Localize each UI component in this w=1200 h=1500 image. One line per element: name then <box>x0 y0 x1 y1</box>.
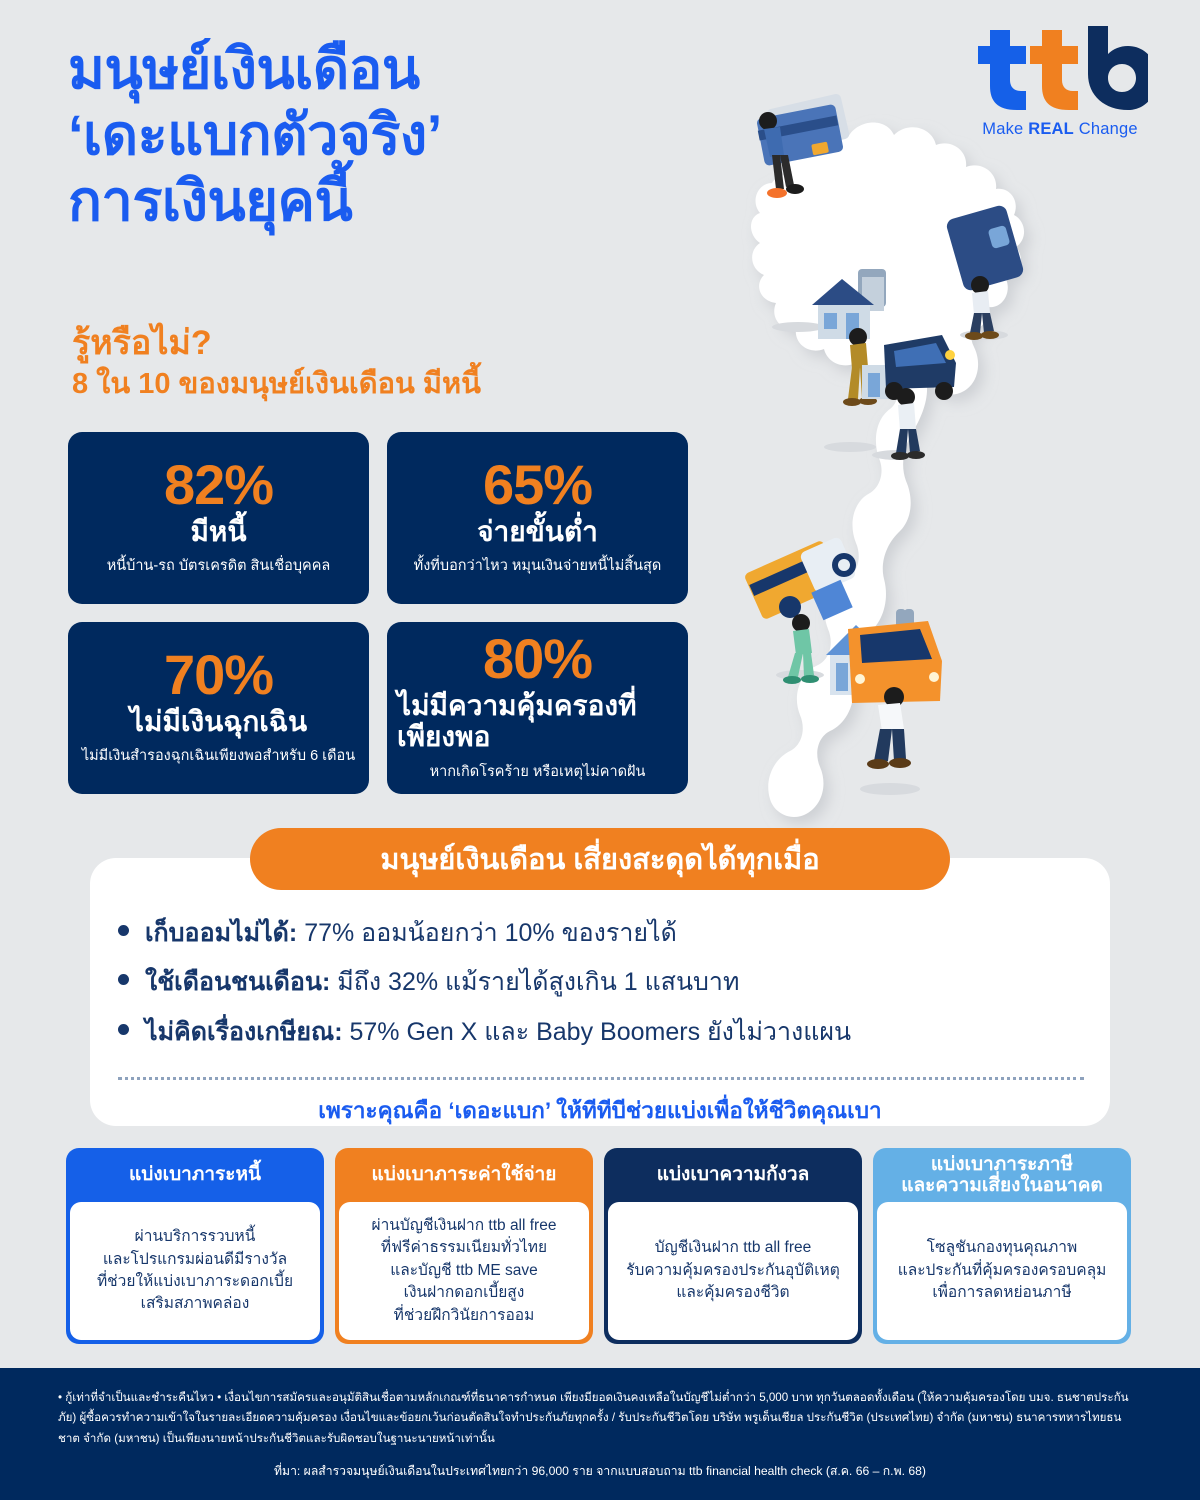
footer-source: ที่มา: ผลสำรวจมนุษย์เงินเดือนในประเทศไทย… <box>58 1462 1142 1481</box>
solution-card-expenses[interactable]: แบ่งเบาภาระค่าใช้จ่าย ผ่านบัญชีเงินฝาก t… <box>335 1148 593 1344</box>
solution-card-row: แบ่งเบาภาระหนี้ ผ่านบริการรวบหนี้และโปรแ… <box>66 1148 1134 1344</box>
thailand-map-svg <box>690 55 1090 845</box>
bullet-lead: เก็บออมไม่ได้: <box>145 919 297 947</box>
tagline-pre: Make <box>982 120 1028 138</box>
list-item: เก็บออมไม่ได้: 77% ออมน้อยกว่า 10% ของรา… <box>118 918 1098 949</box>
solution-card-title: แบ่งเบาภาระภาษีและความเสี่ยงในอนาคต <box>873 1148 1131 1202</box>
stat-card-grid: 82% มีหนี้ หนี้บ้าน-รถ บัตรเครดิต สินเชื… <box>68 432 688 812</box>
dotted-divider <box>118 1077 1084 1080</box>
tagline-post: Change <box>1074 120 1138 138</box>
bullet-dot-icon <box>118 974 129 985</box>
tagline-bold: REAL <box>1028 120 1074 138</box>
solution-card-body: โซลูชันกองทุนคุณภาพและประกันที่คุ้มครองค… <box>877 1202 1127 1340</box>
did-you-know-title: รู้หรือไม่? <box>72 325 692 362</box>
solution-card-title: แบ่งเบาภาระค่าใช้จ่าย <box>335 1148 593 1202</box>
solution-card-body: ผ่านบัญชีเงินฝาก ttb all freeที่ฟรีค่าธร… <box>339 1202 589 1340</box>
risk-panel-banner: มนุษย์เงินเดือน เสี่ยงสะดุดได้ทุกเมื่อ <box>250 828 950 890</box>
list-item: ใช้เดือนชนเดือน: มีถึง 32% แม้รายได้สูงเ… <box>118 967 1098 998</box>
solution-card-title: แบ่งเบาภาระหนี้ <box>66 1148 324 1202</box>
solution-card-body: ผ่านบริการรวบหนี้และโปรแกรมผ่อนดีมีรางวั… <box>70 1202 320 1340</box>
stat-card-minimum-payment: 65% จ่ายขั้นต่ำ ทั้งที่บอกว่าไหว หมุนเงิ… <box>387 432 688 604</box>
stat-description: ไม่มีเงินสำรองฉุกเฉินเพียงพอสำหรับ 6 เดื… <box>82 747 355 765</box>
because-tagline: เพราะคุณคือ ‘เดอะแบก’ ให้ทีทีบีช่วยแบ่งเ… <box>90 1092 1110 1128</box>
stat-percent: 80% <box>483 631 592 687</box>
bullet-rest: 77% ออมน้อยกว่า 10% ของรายได้ <box>297 919 677 947</box>
stat-card-no-coverage: 80% ไม่มีความคุ้มครองที่เพียงพอ หากเกิดโ… <box>387 622 688 794</box>
infographic-page: มนุษย์เงินเดือน ‘เดะแบกตัวจริง’ การเงินย… <box>0 0 1200 1500</box>
solution-card-body: บัญชีเงินฝาก ttb all freeรับความคุ้มครอง… <box>608 1202 858 1340</box>
ttb-logomark-icon <box>972 26 1148 114</box>
stat-label: มีหนี้ <box>190 517 246 548</box>
stat-card-no-emergency-fund: 70% ไม่มีเงินฉุกเฉิน ไม่มีเงินสำรองฉุกเฉ… <box>68 622 369 794</box>
solution-card-debt[interactable]: แบ่งเบาภาระหนี้ ผ่านบริการรวบหนี้และโปรแ… <box>66 1148 324 1344</box>
stat-description: หนี้บ้าน-รถ บัตรเครดิต สินเชื่อบุคคล <box>107 557 331 575</box>
did-you-know-block: รู้หรือไม่? 8 ใน 10 ของมนุษย์เงินเดือน ม… <box>72 325 692 403</box>
risk-bullet-list: เก็บออมไม่ได้: 77% ออมน้อยกว่า 10% ของรา… <box>118 918 1098 1066</box>
ttb-logo: Make REAL Change <box>960 26 1160 139</box>
stat-percent: 70% <box>164 647 273 703</box>
bullet-text: ใช้เดือนชนเดือน: มีถึง 32% แม้รายได้สูงเ… <box>145 967 739 998</box>
stat-label: จ่ายขั้นต่ำ <box>477 517 598 548</box>
solution-card-title: แบ่งเบาความกังวล <box>604 1148 862 1202</box>
page-title: มนุษย์เงินเดือน ‘เดะแบกตัวจริง’ การเงินย… <box>68 36 708 234</box>
bullet-text: เก็บออมไม่ได้: 77% ออมน้อยกว่า 10% ของรา… <box>145 918 677 949</box>
bullet-lead: ใช้เดือนชนเดือน: <box>145 968 330 996</box>
list-item: ไม่คิดเรื่องเกษียณ: 57% Gen X และ Baby B… <box>118 1017 1098 1048</box>
stat-row-2: 70% ไม่มีเงินฉุกเฉิน ไม่มีเงินสำรองฉุกเฉ… <box>68 622 688 794</box>
headline-line-1: มนุษย์เงินเดือน <box>68 36 708 102</box>
stat-description: หากเกิดโรคร้าย หรือเหตุไม่คาดฝัน <box>430 763 646 781</box>
headline-line-2: ‘เดะแบกตัวจริง’ <box>68 102 708 168</box>
bullet-text: ไม่คิดเรื่องเกษียณ: 57% Gen X และ Baby B… <box>145 1017 851 1048</box>
stat-percent: 82% <box>164 457 273 513</box>
did-you-know-subtitle: 8 ใน 10 ของมนุษย์เงินเดือน มีหนี้ <box>72 366 692 402</box>
bullet-dot-icon <box>118 1024 129 1035</box>
logo-tagline: Make REAL Change <box>960 120 1160 139</box>
stat-card-debt: 82% มีหนี้ หนี้บ้าน-รถ บัตรเครดิต สินเชื… <box>68 432 369 604</box>
bullet-dot-icon <box>118 925 129 936</box>
headline-line-3: การเงินยุคนี้ <box>68 168 708 234</box>
stat-percent: 65% <box>483 457 592 513</box>
stat-label: ไม่มีความคุ้มครองที่เพียงพอ <box>397 691 678 753</box>
solution-card-tax[interactable]: แบ่งเบาภาระภาษีและความเสี่ยงในอนาคต โซลู… <box>873 1148 1131 1344</box>
footer-band: • กู้เท่าที่จำเป็นและชำระคืนไหว • เงื่อน… <box>0 1368 1200 1500</box>
stat-description: ทั้งที่บอกว่าไหว หมุนเงินจ่ายหนี้ไม่สิ้น… <box>414 557 662 575</box>
stat-label: ไม่มีเงินฉุกเฉิน <box>130 707 307 738</box>
thailand-map-illustration <box>690 55 1090 845</box>
stat-row-1: 82% มีหนี้ หนี้บ้าน-รถ บัตรเครดิต สินเชื… <box>68 432 688 604</box>
bullet-rest: มีถึง 32% แม้รายได้สูงเกิน 1 แสนบาท <box>330 968 739 996</box>
solution-card-worry[interactable]: แบ่งเบาความกังวล บัญชีเงินฝาก ttb all fr… <box>604 1148 862 1344</box>
bullet-rest: 57% Gen X และ Baby Boomers ยังไม่วางแผน <box>343 1018 852 1046</box>
bullet-lead: ไม่คิดเรื่องเกษียณ: <box>145 1018 343 1046</box>
footer-disclaimer: • กู้เท่าที่จำเป็นและชำระคืนไหว • เงื่อน… <box>58 1388 1142 1449</box>
